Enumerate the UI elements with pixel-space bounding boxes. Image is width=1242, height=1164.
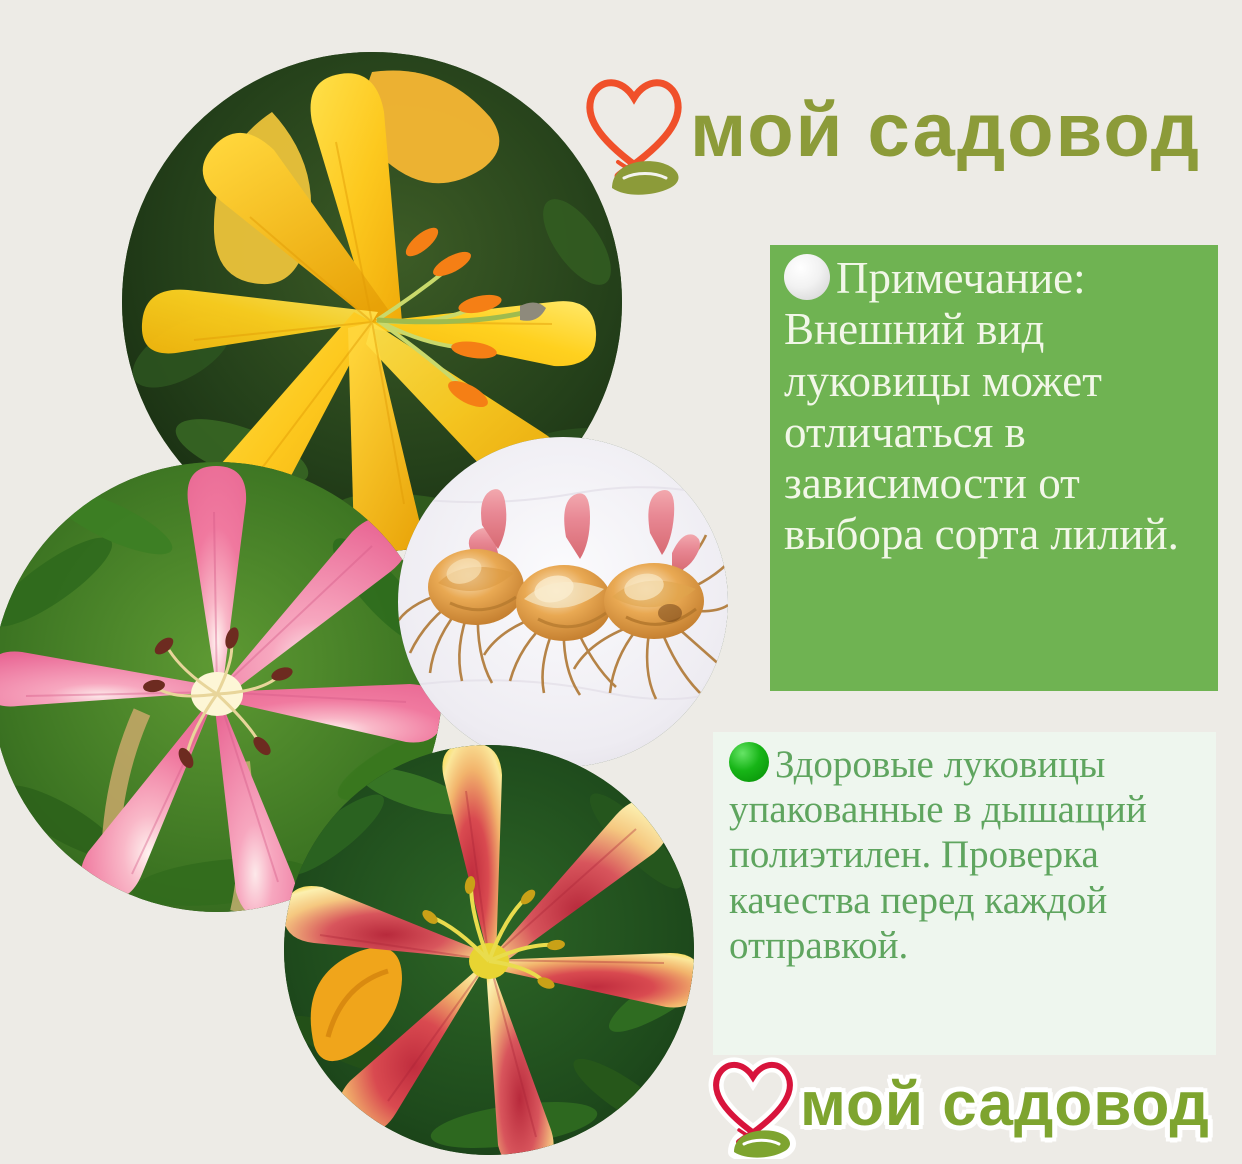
note-panel-primary: Примечание: Внешний вид луковицы может о…: [770, 245, 1218, 691]
photo-lily-bulbs: [398, 437, 728, 767]
white-circle-bullet-icon: [784, 254, 830, 300]
product-collage-card: мой садовод Примечание: Внешний вид луко…: [0, 0, 1242, 1164]
brand-wordmark-bottom: мой садовод: [800, 1074, 1210, 1136]
note-secondary-text: Здоровые луковицы упакованные в дышащий …: [729, 743, 1147, 967]
brand-logo-top: мой садовод: [578, 58, 1228, 203]
note-primary-text: Примечание: Внешний вид луковицы может о…: [784, 253, 1179, 559]
note-panel-secondary: Здоровые луковицы упакованные в дышащий …: [713, 732, 1216, 1055]
photo-bicolor-lily: [284, 745, 694, 1155]
heart-leaf-icon: [578, 66, 696, 196]
heart-leaf-icon-bottom: [706, 1051, 804, 1159]
green-circle-bullet-icon: [729, 742, 769, 782]
brand-wordmark-top: мой садовод: [690, 93, 1201, 169]
brand-logo-bottom: мой садовод: [706, 1046, 1226, 1164]
